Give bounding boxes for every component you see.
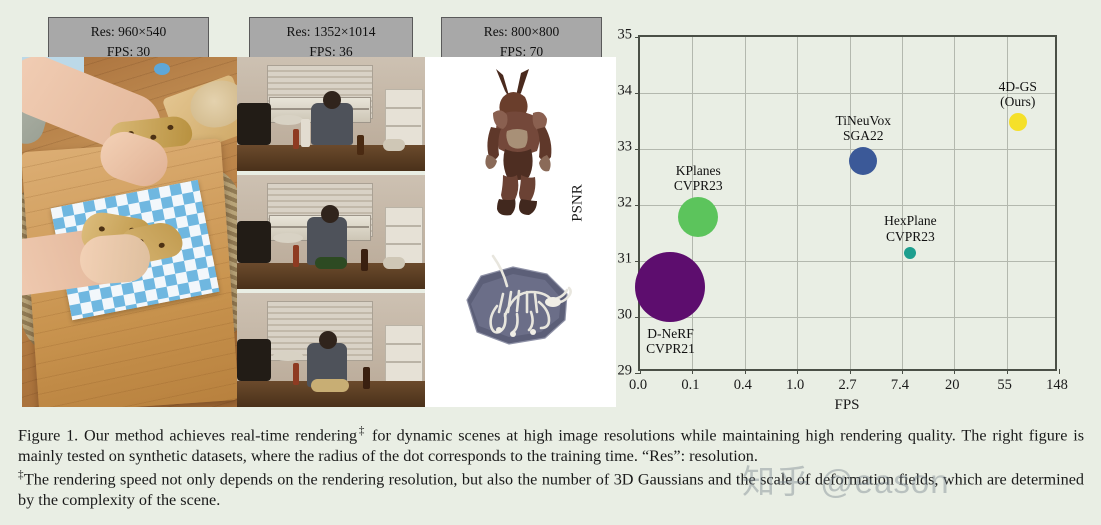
chart-label-kplanes: KPlanesCVPR23 [674,163,723,193]
x-tick-label: 2.7 [838,377,856,394]
y-tick [635,373,640,374]
figure-root: Res: 960×540 FPS: 30 [0,0,1101,525]
panel-1-image-cookie-scene [22,57,237,407]
x-tick [797,369,798,374]
x-tick [640,369,641,374]
chart-label-4d-gs: 4D-GS(Ours) [999,79,1037,109]
chart-bubble-kplanes[interactable] [678,197,718,237]
x-tick [954,369,955,374]
caption-line1: Figure 1. Our method achieves real-time … [18,426,357,444]
panel-column-1: Res: 960×540 FPS: 30 [22,17,237,67]
panel-2-resolution-label: Res: 1352×1014 [250,22,412,42]
y-gridline [640,261,1055,262]
chart-bubble-hexplane[interactable] [904,247,916,259]
x-tick [850,369,851,374]
x-tick [745,369,746,374]
chart-label-tineuvox: TiNeuVoxSGA22 [835,113,891,143]
x-tick-label: 55 [997,377,1012,394]
x-tick-label: 0.0 [629,377,647,394]
kitchen-frame-2 [237,175,425,289]
x-tick [1007,369,1008,374]
y-tick-label: 32 [610,195,632,212]
y-tick [635,261,640,262]
x-tick [902,369,903,374]
chart-label-d-nerf: D-NeRFCVPR21 [646,326,695,356]
x-tick [1059,369,1060,374]
y-tick [635,37,640,38]
figure-caption: Figure 1. Our method achieves real-time … [18,424,1084,511]
footnote-text: The rendering speed not only depends on … [18,470,1084,509]
kitchen-frame-3 [237,293,425,407]
y-tick [635,317,640,318]
y-tick-label: 33 [610,139,632,156]
x-tick-label: 148 [1046,377,1068,394]
y-tick [635,205,640,206]
chart-bubble-d-nerf[interactable] [635,252,705,322]
hellwarrior-render [463,69,573,219]
panel-column-3: Res: 800×800 FPS: 70 [425,17,616,67]
y-tick [635,149,640,150]
y-gridline [640,317,1055,318]
y-gridline [640,149,1055,150]
y-tick-label: 31 [610,251,632,268]
caption-footnote-marker: ‡ [357,425,366,437]
x-tick-label: 20 [945,377,960,394]
caption-main: Figure 1. Our method achieves real-time … [18,424,1084,468]
chart-label-hexplane: HexPlaneCVPR23 [884,213,936,243]
trex-skeleton-render [447,242,587,357]
chart-bubble-tineuvox[interactable] [849,147,877,175]
x-tick-label: 0.1 [681,377,699,394]
footnote: ‡The rendering speed not only depends on… [18,468,1084,512]
chart-bubble-4d-gs[interactable] [1009,113,1027,131]
x-tick-label: 0.4 [734,377,752,394]
y-tick-label: 34 [610,83,632,100]
kitchen-frame-1 [237,57,425,171]
x-gridline [954,37,955,369]
y-tick [635,93,640,94]
y-tick-label: 30 [610,307,632,324]
panel-2-image-kitchen-frames [237,57,425,407]
x-tick-label: 7.4 [891,377,909,394]
panel-3-resolution-label: Res: 800×800 [442,22,601,42]
y-axis-title: PSNR [570,184,587,222]
x-tick-label: 1.0 [786,377,804,394]
y-tick-label: 29 [610,363,632,380]
y-gridline [640,93,1055,94]
x-tick [692,369,693,374]
panel-3-image-synthetic-renders [425,57,616,407]
x-axis-title: FPS [834,397,859,414]
x-gridline [797,37,798,369]
blue-cap-object [154,63,170,75]
panel-column-2: Res: 1352×1014 FPS: 36 [237,17,425,67]
x-gridline [850,37,851,369]
panel-1-resolution-label: Res: 960×540 [49,22,208,42]
image-panel-group: Res: 960×540 FPS: 30 [22,17,616,409]
y-tick-label: 35 [610,27,632,44]
x-gridline [745,37,746,369]
x-gridline [902,37,903,369]
